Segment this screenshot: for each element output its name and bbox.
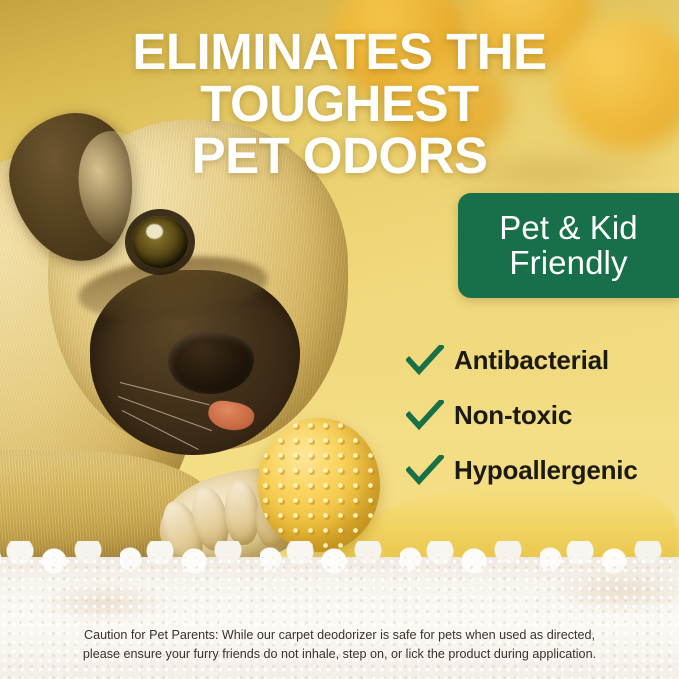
badge-line-1: Pet & Kid [499,211,637,246]
headline-line-2: PET ODORS [14,130,665,182]
check-icon [406,400,444,430]
carpet-shadow [548,569,679,613]
feature-item-hypoallergenic: Hypoallergenic [406,446,679,494]
feature-item-antibacterial: Antibacterial [406,336,679,384]
pet-kid-friendly-badge: Pet & Kid Friendly [458,193,679,298]
feature-label: Antibacterial [454,345,609,376]
feature-label: Hypoallergenic [454,455,638,486]
feature-label: Non-toxic [454,400,572,431]
caution-line-2: please ensure your furry friends do not … [24,645,655,665]
check-icon [406,455,444,485]
caution-line-1: Caution for Pet Parents: While our carpe… [24,626,655,646]
feature-list: Antibacterial Non-toxic Hypoallergenic [406,336,679,501]
badge-line-2: Friendly [509,246,627,281]
headline: ELIMINATES THE TOUGHEST PET ODORS [0,26,679,182]
dog-toe [223,480,261,546]
dog-eye-highlight [146,224,163,239]
spiky-dog-ball [258,418,380,552]
caution-text: Caution for Pet Parents: While our carpe… [0,626,679,665]
carpet-shadow [40,583,170,623]
headline-line-1: ELIMINATES THE TOUGHEST [14,26,665,130]
check-icon [406,345,444,375]
feature-item-non-toxic: Non-toxic [406,391,679,439]
product-ad-banner: ELIMINATES THE TOUGHEST PET ODORS Pet & … [0,0,679,679]
dog-eye [132,216,188,268]
